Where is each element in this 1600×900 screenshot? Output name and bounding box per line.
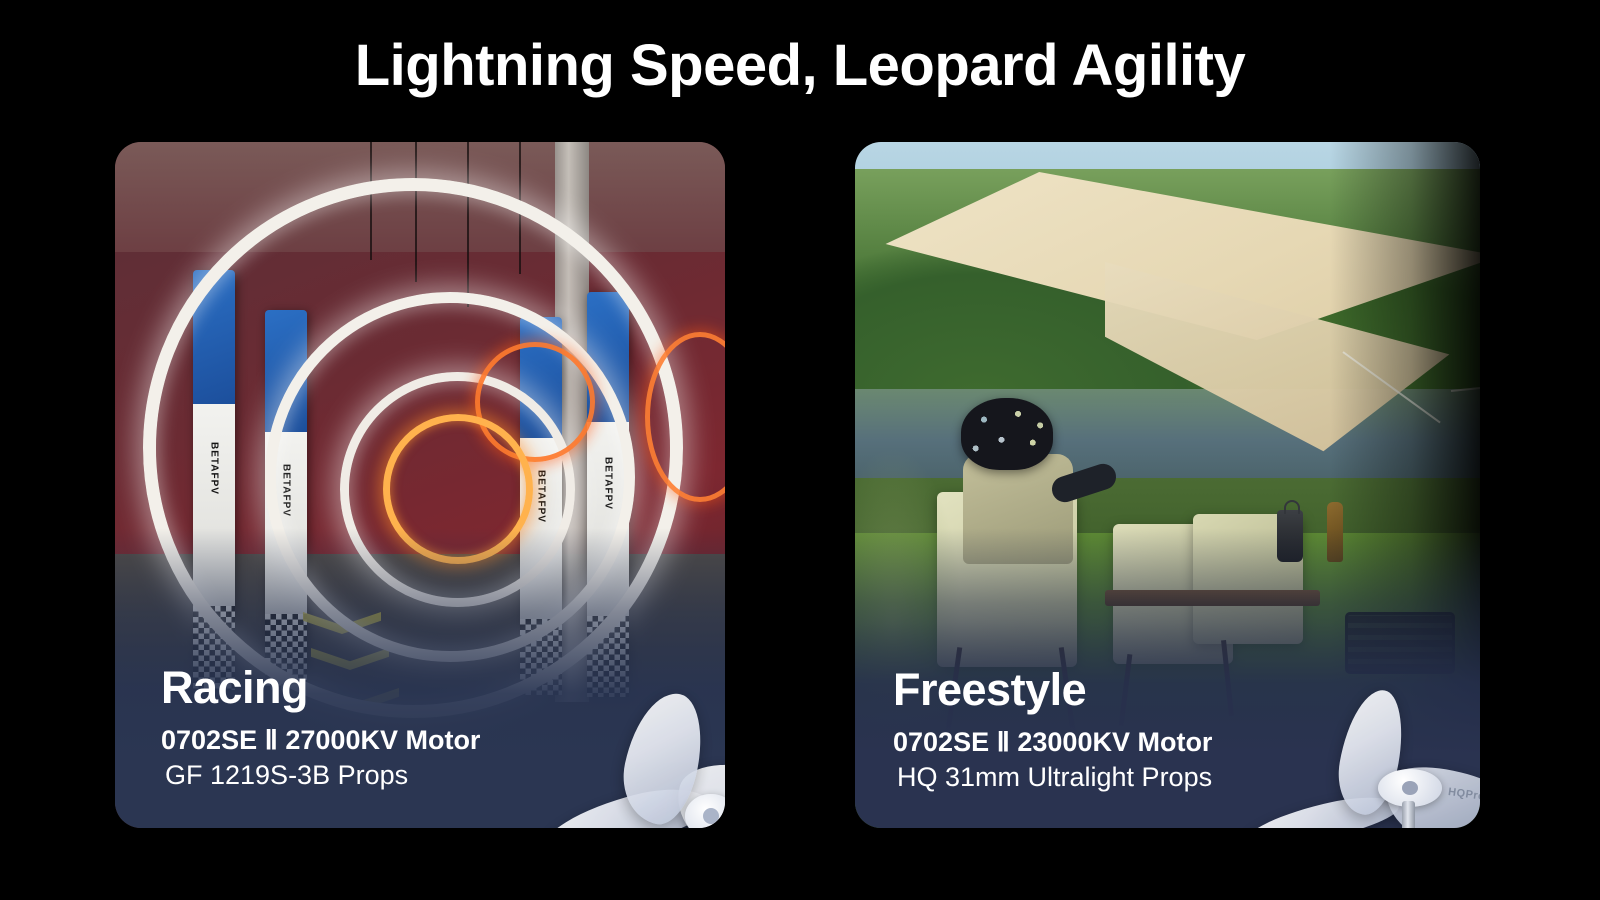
racing-motor-spec: 0702SE Ⅱ 27000KV Motor <box>161 723 480 759</box>
racing-props-spec: GF 1219S-3B Props <box>161 758 480 794</box>
page-title: Lightning Speed, Leopard Agility <box>0 32 1600 99</box>
card-racing[interactable]: BETAFPV BETAFPV BETAFPV <box>115 142 725 828</box>
freestyle-motor-spec: 0702SE Ⅱ 23000KV Motor <box>893 725 1212 761</box>
freestyle-caption: Freestyle 0702SE Ⅱ 23000KV Motor HQ 31mm… <box>893 666 1212 797</box>
promo-banner: Lightning Speed, Leopard Agility BETAFPV <box>0 0 1600 900</box>
racing-product-propeller-motor: 0702 27000 <box>535 702 725 828</box>
freestyle-heading: Freestyle <box>893 666 1212 713</box>
racing-heading: Racing <box>161 664 480 711</box>
racing-caption: Racing 0702SE Ⅱ 27000KV Motor GF 1219S-3… <box>161 664 480 795</box>
freestyle-product-propeller-motor: HQProp 0702 23000 <box>1250 697 1480 828</box>
card-freestyle[interactable]: Freestyle 0702SE Ⅱ 23000KV Motor HQ 31mm… <box>855 142 1480 828</box>
motor-shaft <box>1402 801 1415 828</box>
freestyle-props-spec: HQ 31mm Ultralight Props <box>893 760 1212 796</box>
